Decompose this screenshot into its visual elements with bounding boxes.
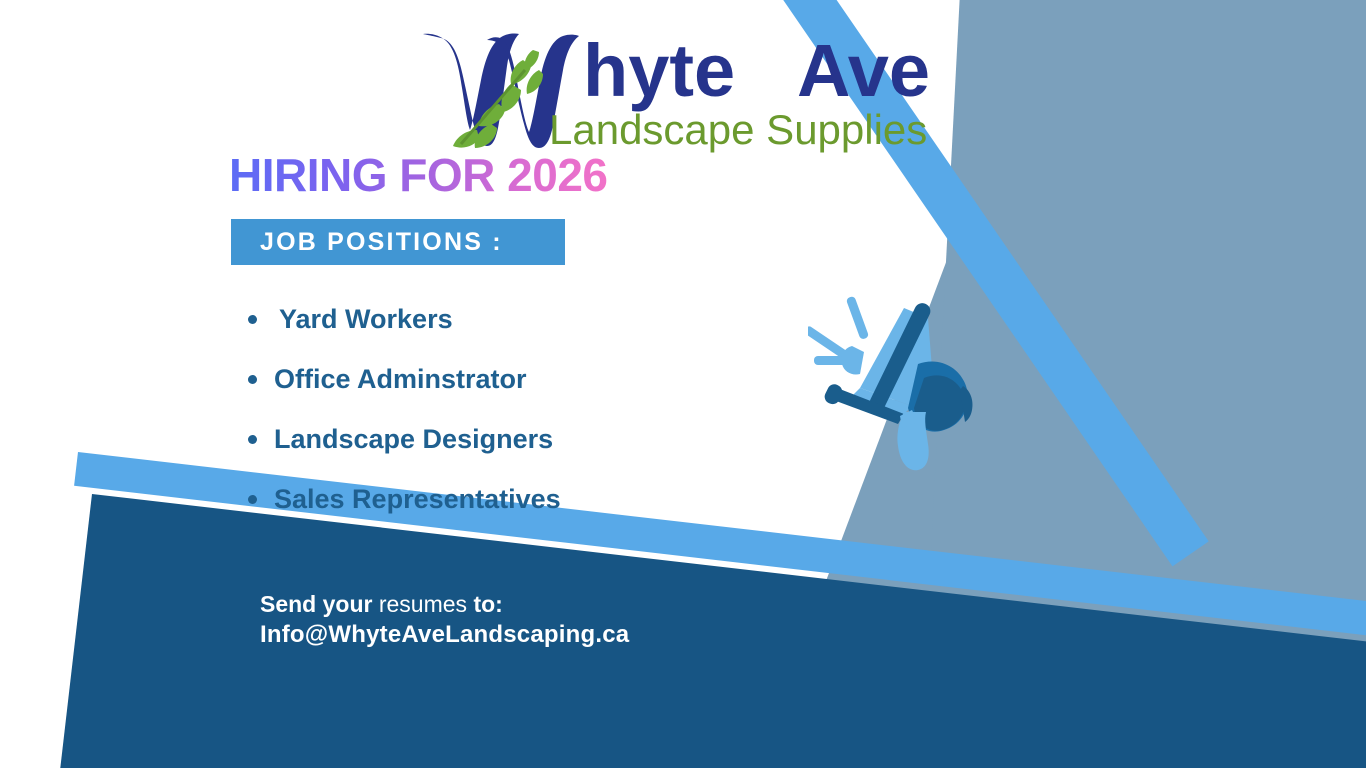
contact-instruction: Send your resumes to: xyxy=(260,589,629,619)
list-item: Office Adminstrator xyxy=(248,349,561,409)
job-positions-banner-label: JOB POSITIONS : xyxy=(231,228,503,257)
svg-text:Landscape Supplies: Landscape Supplies xyxy=(549,106,927,153)
page-title: HIRING FOR 2026 xyxy=(229,152,608,198)
contact-block: Send your resumes to: Info@WhyteAveLands… xyxy=(260,589,629,651)
contact-instruction-part2: resumes xyxy=(379,591,467,617)
position-label: Office Adminstrator xyxy=(274,364,527,395)
bullet-icon xyxy=(248,495,257,504)
hiring-poster: hyte Ave Landscape Supplies HIRING FOR 2… xyxy=(0,0,1366,768)
contact-email[interactable]: Info@WhyteAveLandscaping.ca xyxy=(260,619,629,651)
bullet-icon xyxy=(248,315,257,324)
position-label: Sales Representatives xyxy=(274,484,561,515)
job-positions-list: Yard Workers Office Adminstrator Landsca… xyxy=(248,289,561,529)
job-positions-banner: JOB POSITIONS : xyxy=(231,219,565,265)
position-label: Yard Workers xyxy=(279,304,453,335)
contact-instruction-part1: Send your xyxy=(260,591,372,617)
position-label: Landscape Designers xyxy=(274,424,553,455)
svg-text:hyte: hyte xyxy=(583,29,735,112)
bullet-icon xyxy=(248,375,257,384)
megaphone-icon xyxy=(808,290,988,475)
company-logo: hyte Ave Landscape Supplies xyxy=(415,26,975,156)
list-item: Yard Workers xyxy=(248,289,561,349)
svg-text:Ave: Ave xyxy=(797,29,930,112)
list-item: Sales Representatives xyxy=(248,469,561,529)
list-item: Landscape Designers xyxy=(248,409,561,469)
bullet-icon xyxy=(248,435,257,444)
contact-instruction-part3: to: xyxy=(473,591,502,617)
